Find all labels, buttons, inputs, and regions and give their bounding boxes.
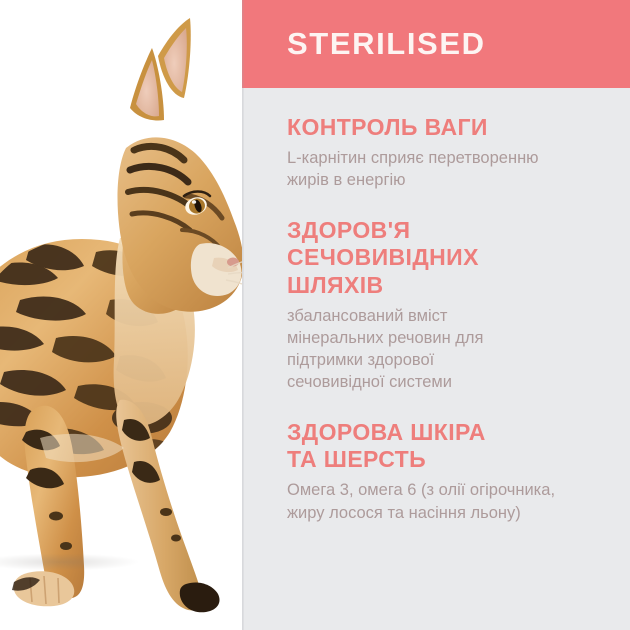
feature-block-skin-and-coat: ЗДОРОВА ШКІРА ТА ШЕРСТЬ Омега 3, омега 6…: [287, 419, 612, 523]
banner-title: STERILISED: [287, 26, 486, 62]
product-feature-infographic: STERILISED КОНТРОЛЬ ВАГИ L-карнітин спри…: [0, 0, 630, 630]
feature-block-urinary-health: ЗДОРОВ'Я СЕЧОВИВІДНИХ ШЛЯХІВ збалансован…: [287, 217, 612, 393]
feature-body: L-карнітин сприяє перетворенню жирів в е…: [287, 147, 612, 191]
cat-eye-highlight: [192, 200, 196, 204]
feature-heading: ЗДОРОВ'Я СЕЧОВИВІДНИХ ШЛЯХІВ: [287, 217, 612, 298]
feature-body: збалансований вміст мінеральних речовин …: [287, 305, 612, 393]
feature-list: КОНТРОЛЬ ВАГИ L-карнітин сприяє перетвор…: [242, 88, 630, 550]
title-banner: STERILISED: [242, 0, 630, 88]
cat-photo: [0, 0, 242, 630]
feature-heading: КОНТРОЛЬ ВАГИ: [287, 114, 612, 141]
bengal-cat-illustration: [0, 0, 242, 630]
feature-block-weight-control: КОНТРОЛЬ ВАГИ L-карнітин сприяє перетвор…: [287, 114, 612, 191]
feature-heading: ЗДОРОВА ШКІРА ТА ШЕРСТЬ: [287, 419, 612, 473]
feature-body: Омега 3, омега 6 (з олії огірочника, жир…: [287, 479, 612, 523]
